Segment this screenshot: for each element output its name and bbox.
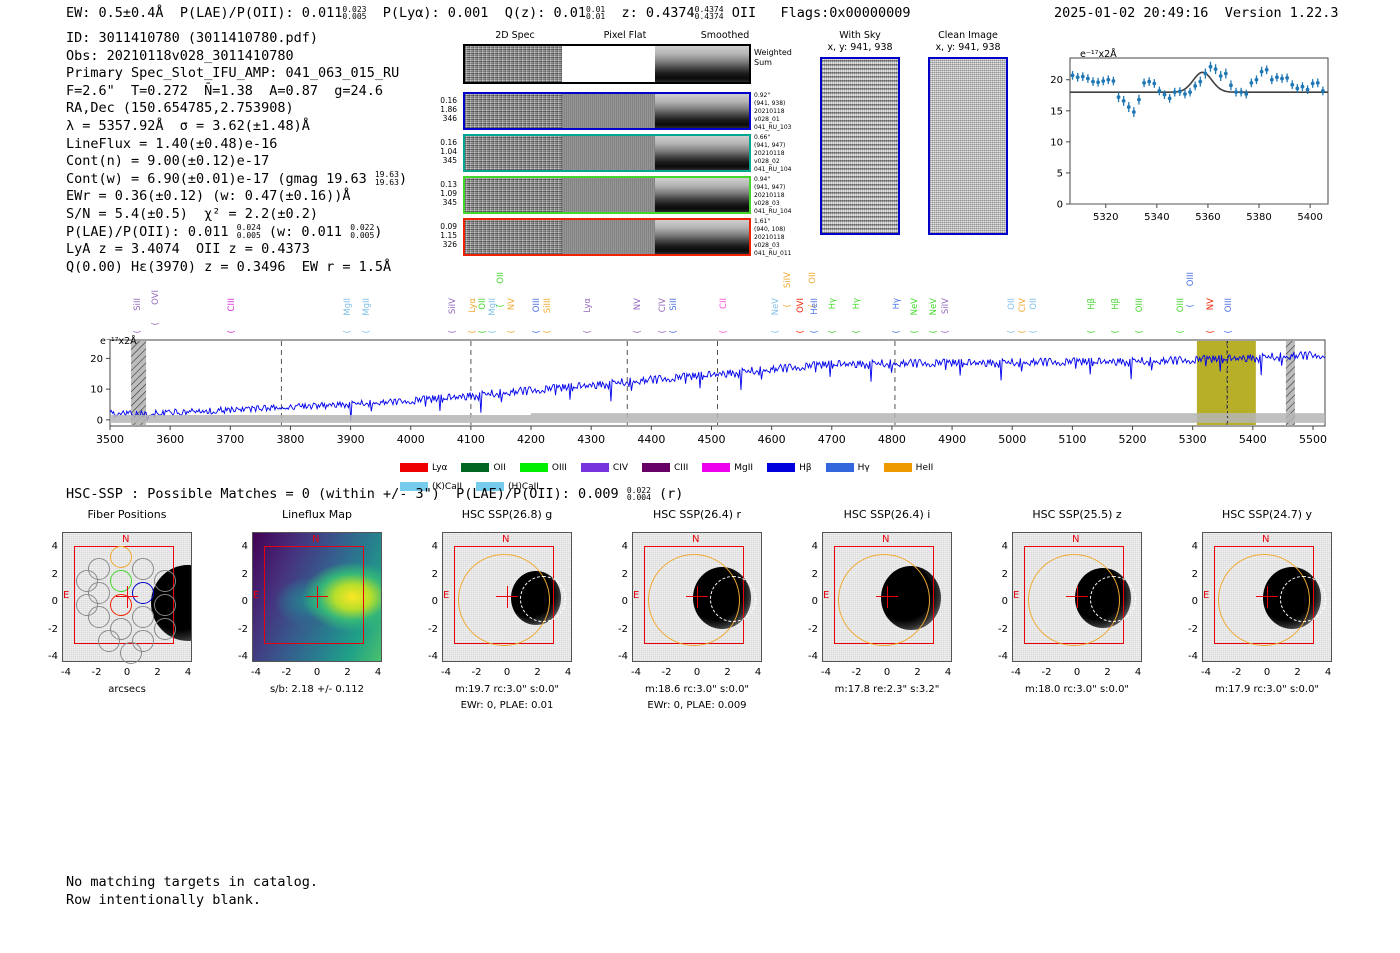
panel-ytick: 2: [612, 569, 628, 580]
spectrum-line-label: NV: [633, 298, 643, 310]
panel-xtick: 0: [688, 667, 706, 678]
info-slot: Primary Spec_Slot_IFU_AMP: 041_063_015_R…: [66, 65, 407, 83]
panel-xtick: 2: [149, 667, 167, 678]
svg-text:10: 10: [90, 385, 103, 396]
panel-xtick: 4: [939, 667, 957, 678]
fiber-3-left-values: 0.131.09345: [417, 180, 457, 207]
spectrum-line-bracket: (: [929, 330, 939, 334]
info-sn: S/N = 5.4(±0.5) χ² = 2.2(±0.2): [66, 206, 407, 224]
panel-xtick: -4: [437, 667, 455, 678]
panel-xtick: 2: [339, 667, 357, 678]
svg-text:20: 20: [1050, 75, 1063, 86]
panel-xtick: 4: [369, 667, 387, 678]
legend-swatch: [461, 463, 489, 472]
svg-text:15: 15: [1050, 106, 1063, 117]
header-plae-value: 0.011: [302, 5, 343, 21]
panel-xtick: -2: [848, 667, 866, 678]
info-params: F=2.6" T=0.272 N̄=1.38 A=0.87 g=24.6: [66, 83, 407, 101]
panel-xtick: -4: [1007, 667, 1025, 678]
spec2d-row-fiber-2: [463, 134, 751, 172]
panel-ytick: 4: [802, 541, 818, 552]
spectrum-line-label: MgII: [362, 298, 372, 316]
legend-label: Lyα: [432, 463, 447, 473]
svg-text:5400: 5400: [1297, 212, 1322, 223]
panel-xtick: -4: [627, 667, 645, 678]
svg-text:5200: 5200: [1119, 433, 1147, 446]
spectrum-line-label: OVI: [796, 298, 806, 313]
hsc-plae-range: 0.0220.004: [627, 487, 651, 502]
cutout-sub-clean: x, y: 941, 938: [918, 42, 1018, 53]
legend-label: CIV: [613, 463, 628, 473]
source-blob: [1075, 568, 1131, 628]
info-plae: P(LAE)/P(OII): 0.011 0.0240.005 (w: 0.01…: [66, 224, 407, 242]
spectrum-line-label: OIII: [1135, 298, 1145, 312]
spec2d-panel-group: 2D Spec Pixel Flat Smoothed Weighted Sum…: [420, 30, 800, 260]
panel-xtick: -2: [658, 667, 676, 678]
spectrum-line-label: OII: [496, 272, 506, 284]
source-blob: [881, 566, 941, 630]
panel-ytick: 4: [1182, 541, 1198, 552]
spectrum-line-bracket: (: [658, 330, 668, 334]
spectrum-line-bracket: (: [1007, 330, 1017, 334]
spectrum-line-label: OIII: [1224, 298, 1234, 312]
panel-ytick: 2: [422, 569, 438, 580]
spectrum-line-bracket: (: [796, 330, 806, 334]
panel-ytick: -4: [1182, 651, 1198, 662]
cutout-title-clean: Clean Image: [918, 30, 1018, 41]
panel-ytick: 0: [802, 596, 818, 607]
legend-item: OIII: [520, 463, 567, 474]
svg-text:4100: 4100: [457, 433, 485, 446]
panel-ytick: 4: [612, 541, 628, 552]
spectrum-line-label: OVI: [151, 290, 161, 305]
weighted-sum-label: Weighted Sum: [754, 48, 792, 68]
panel-ytick: -2: [42, 624, 58, 635]
svg-text:4300: 4300: [577, 433, 605, 446]
legend-label: Hγ: [858, 463, 870, 473]
spectrum-line-label: Hγ: [892, 298, 902, 309]
panel-title-pixelflat: Pixel Flat: [570, 30, 680, 41]
spectrum-line-label: Hβ: [1111, 298, 1121, 310]
legend-swatch: [642, 463, 670, 472]
cutout-with-sky-image: [820, 57, 900, 235]
legend-item: Hγ: [826, 463, 870, 474]
header-timestamp: 2025-01-02 20:49:16: [1054, 5, 1208, 21]
legend-item: HeII: [884, 463, 934, 474]
svg-text:5100: 5100: [1058, 433, 1086, 446]
panel-caption-primary: m:18.6 rc:3.0" s:0.0": [602, 684, 792, 695]
panel-ytick: -2: [232, 624, 248, 635]
legend-swatch: [702, 463, 730, 472]
panel-ytick: 4: [422, 541, 438, 552]
spectrum-line-label: NeV: [910, 298, 920, 315]
svg-text:5500: 5500: [1299, 433, 1327, 446]
panel-ytick: -2: [422, 624, 438, 635]
svg-text:4600: 4600: [758, 433, 786, 446]
panel-ytick: 2: [992, 569, 1008, 580]
legend-item: Lyα: [400, 463, 447, 474]
spectrum-line-bracket: (: [488, 330, 498, 334]
info-ewr: EWr = 0.36(±0.12) (w: 0.47(±0.16))Å: [66, 188, 407, 206]
panel-caption-primary: s/b: 2.18 +/- 0.112: [222, 684, 412, 695]
image-panel-image[interactable]: [442, 532, 572, 662]
header-plya: P(Lyα): 0.001: [383, 5, 489, 21]
source-blob: [511, 571, 561, 625]
spec2d-row-weighted-sum: [463, 44, 751, 84]
header-qz-range: 0.010.01: [586, 6, 605, 21]
spectrum-line-bracket: (: [478, 330, 488, 334]
info-plae-range: 0.0240.005: [237, 224, 261, 239]
image-panel-title: HSC SSP(26.8) g: [422, 508, 592, 521]
svg-text:4000: 4000: [397, 433, 425, 446]
info-radec: RA,Dec (150.654785,2.753908): [66, 100, 407, 118]
spec2d-row-fiber-1: [463, 92, 751, 130]
info-cont-n: Cont(n) = 9.00(±0.12)e-17: [66, 153, 407, 171]
image-panel-title: HSC SSP(26.4) r: [612, 508, 782, 521]
spectrum-line-bracket: (: [941, 330, 951, 334]
spectrum-line-bracket: (: [448, 330, 458, 334]
panel-caption-primary: m:17.8 re:2.3" s:3.2": [792, 684, 982, 695]
image-panel-title: HSC SSP(26.4) i: [802, 508, 972, 521]
header-z-range: 0.43740.4374: [695, 6, 724, 21]
spec2d-row-fiber-4: [463, 218, 751, 256]
image-panel-heatmap[interactable]: [252, 532, 382, 662]
spectrum-line-bracket: (: [828, 330, 838, 334]
spectrum-line-label: SiIV: [783, 272, 793, 288]
panel-ytick: 2: [802, 569, 818, 580]
panel-xtick: 2: [529, 667, 547, 678]
panel-xtick: -2: [1228, 667, 1246, 678]
spectrum-line-bracket: (: [669, 330, 679, 334]
spectrum-line-bracket: (: [496, 304, 506, 308]
header-meta: 2025-01-02 20:49:16 Version 1.22.3: [1054, 5, 1339, 21]
legend-label: CIII: [674, 463, 688, 473]
svg-text:5300: 5300: [1179, 433, 1207, 446]
panel-xtick: -2: [468, 667, 486, 678]
svg-text:3600: 3600: [156, 433, 184, 446]
svg-text:5380: 5380: [1246, 212, 1271, 223]
fiber-1-left-values: 0.161.86346: [417, 96, 457, 123]
cutout-title-with-sky: With Sky: [810, 30, 910, 41]
svg-text:5400: 5400: [1239, 433, 1267, 446]
svg-text:0: 0: [97, 415, 103, 426]
spec2d-row-fiber-3: [463, 176, 751, 214]
header-qz: Q(z): 0.01: [505, 5, 586, 21]
cutout-clean-image: [928, 57, 1008, 235]
spectrum-line-label: OIII: [1186, 272, 1196, 286]
spectrum-line-label: CIII: [227, 298, 237, 311]
panel-xtick: 4: [1319, 667, 1337, 678]
panel-ytick: 0: [232, 596, 248, 607]
panel-ytick: 0: [992, 596, 1008, 607]
info-id: ID: 3011410780 (3011410780.pdf): [66, 30, 407, 48]
panel-caption-primary: arcsecs: [32, 684, 222, 695]
spectrum-line-bracket: (: [543, 330, 553, 334]
panel-caption-secondary: EWr: 0, PLAE: 0.01: [412, 700, 602, 711]
panel-xtick: 2: [1099, 667, 1117, 678]
panel-xtick: -2: [278, 667, 296, 678]
legend-swatch: [520, 463, 548, 472]
spectrum-line-label: SiIII: [543, 298, 553, 313]
panel-xtick: 4: [179, 667, 197, 678]
panel-xtick: 0: [498, 667, 516, 678]
svg-text:3500: 3500: [96, 433, 124, 446]
panel-xtick: 0: [308, 667, 326, 678]
panel-ytick: -2: [992, 624, 1008, 635]
svg-text:4400: 4400: [637, 433, 665, 446]
legend-label: MgII: [734, 463, 753, 473]
fiber-2-meta: 0.66" (941, 947) 20210118 v028_02 041_RU…: [754, 134, 791, 174]
panel-ytick: -4: [42, 651, 58, 662]
line-profile-svg: 0510152053205340536053805400: [1036, 44, 1336, 244]
spectrum-line-label: OIII: [1176, 298, 1186, 312]
panel-caption-primary: m:17.9 rc:3.0" s:0.0": [1172, 684, 1362, 695]
cutout-sub-with-sky: x, y: 941, 938: [810, 42, 910, 53]
svg-text:10: 10: [1050, 137, 1063, 148]
panel-xtick: 2: [1289, 667, 1307, 678]
panel-xtick: 2: [909, 667, 927, 678]
legend-swatch: [767, 463, 795, 472]
svg-text:5360: 5360: [1195, 212, 1220, 223]
panel-ytick: 4: [42, 541, 58, 552]
cutout-group: With Sky x, y: 941, 938 Clean Image x, y…: [810, 30, 1020, 250]
image-panel-title: Fiber Positions: [42, 508, 212, 521]
spectrum-line-bracket: (: [910, 330, 920, 334]
panel-xtick: 4: [559, 667, 577, 678]
info-redshift: LyA z = 3.4074 OII z = 0.4373: [66, 241, 407, 259]
panel-ytick: 0: [612, 596, 628, 607]
image-panel-fibers[interactable]: [62, 532, 192, 662]
legend-swatch: [826, 463, 854, 472]
spectrum-line-bracket: (: [1135, 330, 1145, 334]
spectrum-line-bracket: (: [133, 330, 143, 334]
spectrum-line-bracket: (: [1111, 330, 1121, 334]
panel-ytick: 0: [422, 596, 438, 607]
spectrum-line-bracket: (: [1206, 330, 1216, 334]
spectrum-line-label: NeV: [929, 298, 939, 315]
header-summary: EW: 0.5±0.4Å P(LAE)/P(OII): 0.0110.0230.…: [66, 5, 911, 21]
panel-xtick: -2: [1038, 667, 1056, 678]
spectrum-line-bracket: (: [151, 322, 161, 326]
header-version: Version 1.22.3: [1225, 5, 1339, 21]
fiber-2-left-values: 0.161.04345: [417, 138, 457, 165]
panel-ytick: -4: [802, 651, 818, 662]
image-panel-title: HSC SSP(25.5) z: [992, 508, 1162, 521]
panel-xtick: -4: [817, 667, 835, 678]
legend-swatch: [400, 463, 428, 472]
spectrum-line-label: Hβ: [1087, 298, 1097, 310]
source-blob: [693, 567, 751, 629]
panel-ytick: 0: [42, 596, 58, 607]
spectrum-line-label: Lyα: [583, 298, 593, 313]
panel-ytick: -4: [612, 651, 628, 662]
legend-label: OIII: [552, 463, 567, 473]
spectrum-line-bracket: (: [1186, 304, 1196, 308]
svg-text:3700: 3700: [216, 433, 244, 446]
spectrum-line-bracket: (: [852, 330, 862, 334]
legend-item: MgII: [702, 463, 753, 474]
svg-text:4800: 4800: [878, 433, 906, 446]
header-ew: EW: 0.5±0.4Å: [66, 5, 164, 21]
panel-ytick: -4: [232, 651, 248, 662]
spectrum-line-label: SiIV: [941, 298, 951, 314]
spectrum-line-bracket: (: [362, 330, 372, 334]
spectrum-line-bracket: (: [507, 330, 517, 334]
footer-note: No matching targets in catalog. Row inte…: [66, 874, 318, 909]
footer-line-2: Row intentionally blank.: [66, 892, 261, 908]
info-plae-w-range: 0.0220.005: [350, 224, 374, 239]
source-blob: [151, 565, 192, 641]
hsc-header: HSC-SSP : Possible Matches = 0 (within +…: [66, 486, 683, 502]
panel-caption-secondary: EWr: 0, PLAE: 0.009: [602, 700, 792, 711]
line-profile-chart: 0510152053205340536053805400 e⁻¹⁷x2Å: [1036, 44, 1336, 244]
panel-caption-primary: m:18.0 rc:3.0" s:0.0": [982, 684, 1172, 695]
spectrum-line-label: Lyα: [468, 298, 478, 313]
spectrum-line-bracket: (: [719, 330, 729, 334]
panel-xtick: -4: [1197, 667, 1215, 678]
svg-text:4200: 4200: [517, 433, 545, 446]
svg-text:4500: 4500: [697, 433, 725, 446]
legend-item: CIV: [581, 463, 628, 474]
spectrum-line-label: HeII: [810, 298, 820, 315]
panel-xtick: 0: [1068, 667, 1086, 678]
spectrum-line-label: SiIV: [448, 298, 458, 314]
image-panel-image[interactable]: [1202, 532, 1332, 662]
spectrum-line-label: Hγ: [852, 298, 862, 309]
info-lambda: λ = 5357.92Å σ = 3.62(±1.48)Å: [66, 118, 407, 136]
svg-text:5: 5: [1057, 168, 1063, 179]
fiber-4-left-values: 0.091.15326: [417, 222, 457, 249]
fiber-3-meta: 0.94" (941, 947) 20210118 v028_03 041_RU…: [754, 176, 791, 216]
spectrum-line-label: CIV: [658, 298, 668, 312]
spectrum-line-label: SiII: [669, 298, 679, 311]
panel-title-2dspec: 2D Spec: [460, 30, 570, 41]
panel-xtick: 0: [1258, 667, 1276, 678]
svg-text:4900: 4900: [938, 433, 966, 446]
svg-text:3900: 3900: [337, 433, 365, 446]
panel-xtick: 2: [719, 667, 737, 678]
full-spectrum-chart: 0102035003600370038003900400041004200430…: [0, 268, 1400, 473]
panel-xtick: 4: [749, 667, 767, 678]
spectrum-line-label: OII: [1029, 298, 1039, 310]
legend-item: OII: [461, 463, 505, 474]
spectrum-line-bracket: (: [892, 330, 902, 334]
legend-item: Hβ: [767, 463, 812, 474]
info-obs: Obs: 20210118v028_3011410780: [66, 48, 407, 66]
source-blob: [1263, 567, 1321, 629]
spectrum-line-bracket: (: [1087, 330, 1097, 334]
panel-ytick: 2: [1182, 569, 1198, 580]
spectrum-line-label: CII: [719, 298, 729, 309]
spectrum-line-bracket: (: [1018, 330, 1028, 334]
svg-text:5320: 5320: [1093, 212, 1118, 223]
svg-text:5000: 5000: [998, 433, 1026, 446]
footer-line-1: No matching targets in catalog.: [66, 874, 318, 890]
panel-xtick: 4: [1129, 667, 1147, 678]
header-plae-label: P(LAE)/P(OII):: [180, 5, 294, 21]
spectrum-line-bracket: (: [583, 330, 593, 334]
legend-swatch: [581, 463, 609, 472]
svg-text:4700: 4700: [818, 433, 846, 446]
spectrum-line-bracket: (: [1224, 330, 1234, 334]
panel-ytick: -2: [802, 624, 818, 635]
svg-text:3800: 3800: [276, 433, 304, 446]
image-panel-title: Lineflux Map: [232, 508, 402, 521]
spectrum-line-label: OII: [1007, 298, 1017, 310]
spectrum-line-bracket: (: [783, 304, 793, 308]
legend-swatch: [884, 463, 912, 472]
svg-text:0: 0: [1057, 200, 1063, 211]
image-panel-image[interactable]: [1012, 532, 1142, 662]
panel-ytick: -2: [612, 624, 628, 635]
spectrum-line-bracket: (: [771, 330, 781, 334]
legend-label: HeII: [916, 463, 934, 473]
panel-caption-primary: m:19.7 rc:3.0" s:0.0": [412, 684, 602, 695]
spectrum-line-label: NV: [507, 298, 517, 310]
spectrum-line-bracket: (: [532, 330, 542, 334]
panel-xtick: 0: [878, 667, 896, 678]
spectrum-line-label: Hγ: [828, 298, 838, 309]
svg-text:5340: 5340: [1144, 212, 1169, 223]
info-cont-w-range: 19.6319.63: [375, 171, 399, 186]
header-z-species: OII: [732, 5, 756, 21]
panel-xtick: -4: [247, 667, 265, 678]
spectrum-line-bracket: (: [1029, 330, 1039, 334]
spectrum-line-labels: SiII(OVI(CIII(MgII(MgII(SiIV(Lyα(OII(MgI…: [0, 268, 1400, 358]
panel-ytick: -4: [422, 651, 438, 662]
legend-label: OII: [493, 463, 505, 473]
target-info-block: ID: 3011410780 (3011410780.pdf) Obs: 202…: [66, 30, 407, 276]
header-flags: Flags:0x00000009: [780, 5, 910, 21]
spectrum-line-bracket: (: [227, 330, 237, 334]
panel-ytick: 2: [42, 569, 58, 580]
header-plae-range: 0.0230.005: [342, 6, 366, 21]
spectrum-line-label: MgII: [343, 298, 353, 316]
image-panel-row: Fiber PositionsNE420-2-4-4-2024arcsecsLi…: [0, 508, 1400, 748]
image-panel-image[interactable]: [632, 532, 762, 662]
spectrum-line-label: CIV: [1018, 298, 1028, 312]
image-panel-title: HSC SSP(24.7) y: [1182, 508, 1352, 521]
panel-ytick: 2: [232, 569, 248, 580]
spectrum-line-label: OII: [808, 272, 818, 284]
header-z: z: 0.4374: [622, 5, 695, 21]
spectrum-legend: LyαOIIOIIICIVCIIIMgIIHβHγHeII(K)CaII(H)C…: [400, 455, 1020, 471]
panel-xtick: -2: [88, 667, 106, 678]
legend-item: CIII: [642, 463, 688, 474]
panel-ytick: 4: [992, 541, 1008, 552]
panel-ytick: 4: [232, 541, 248, 552]
info-cont-w: Cont(w) = 6.90(±0.01)e-17 (gmag 19.63 19…: [66, 171, 407, 189]
spectrum-line-bracket: (: [468, 330, 478, 334]
spectrum-line-bracket: (: [633, 330, 643, 334]
info-lineflux: LineFlux = 1.40(±0.48)e-16: [66, 136, 407, 154]
panel-title-smoothed: Smoothed: [670, 30, 780, 41]
spectrum-line-label: NV: [1206, 298, 1216, 310]
spectrum-line-bracket: (: [810, 330, 820, 334]
spectrum-line-label: NeV: [771, 298, 781, 315]
spectrum-line-label: OIII: [532, 298, 542, 312]
fiber-1-meta: 0.92" (941, 938) 20210118 v028_01 041_RU…: [754, 92, 791, 132]
image-panel-image[interactable]: [822, 532, 952, 662]
line-profile-units: e⁻¹⁷x2Å: [1080, 49, 1117, 60]
panel-ytick: -2: [1182, 624, 1198, 635]
spectrum-line-label: SiII: [133, 298, 143, 311]
panel-xtick: -4: [57, 667, 75, 678]
spectrum-line-bracket: (: [343, 330, 353, 334]
panel-ytick: -4: [992, 651, 1008, 662]
panel-ytick: 0: [1182, 596, 1198, 607]
spectrum-line-bracket: (: [1176, 330, 1186, 334]
